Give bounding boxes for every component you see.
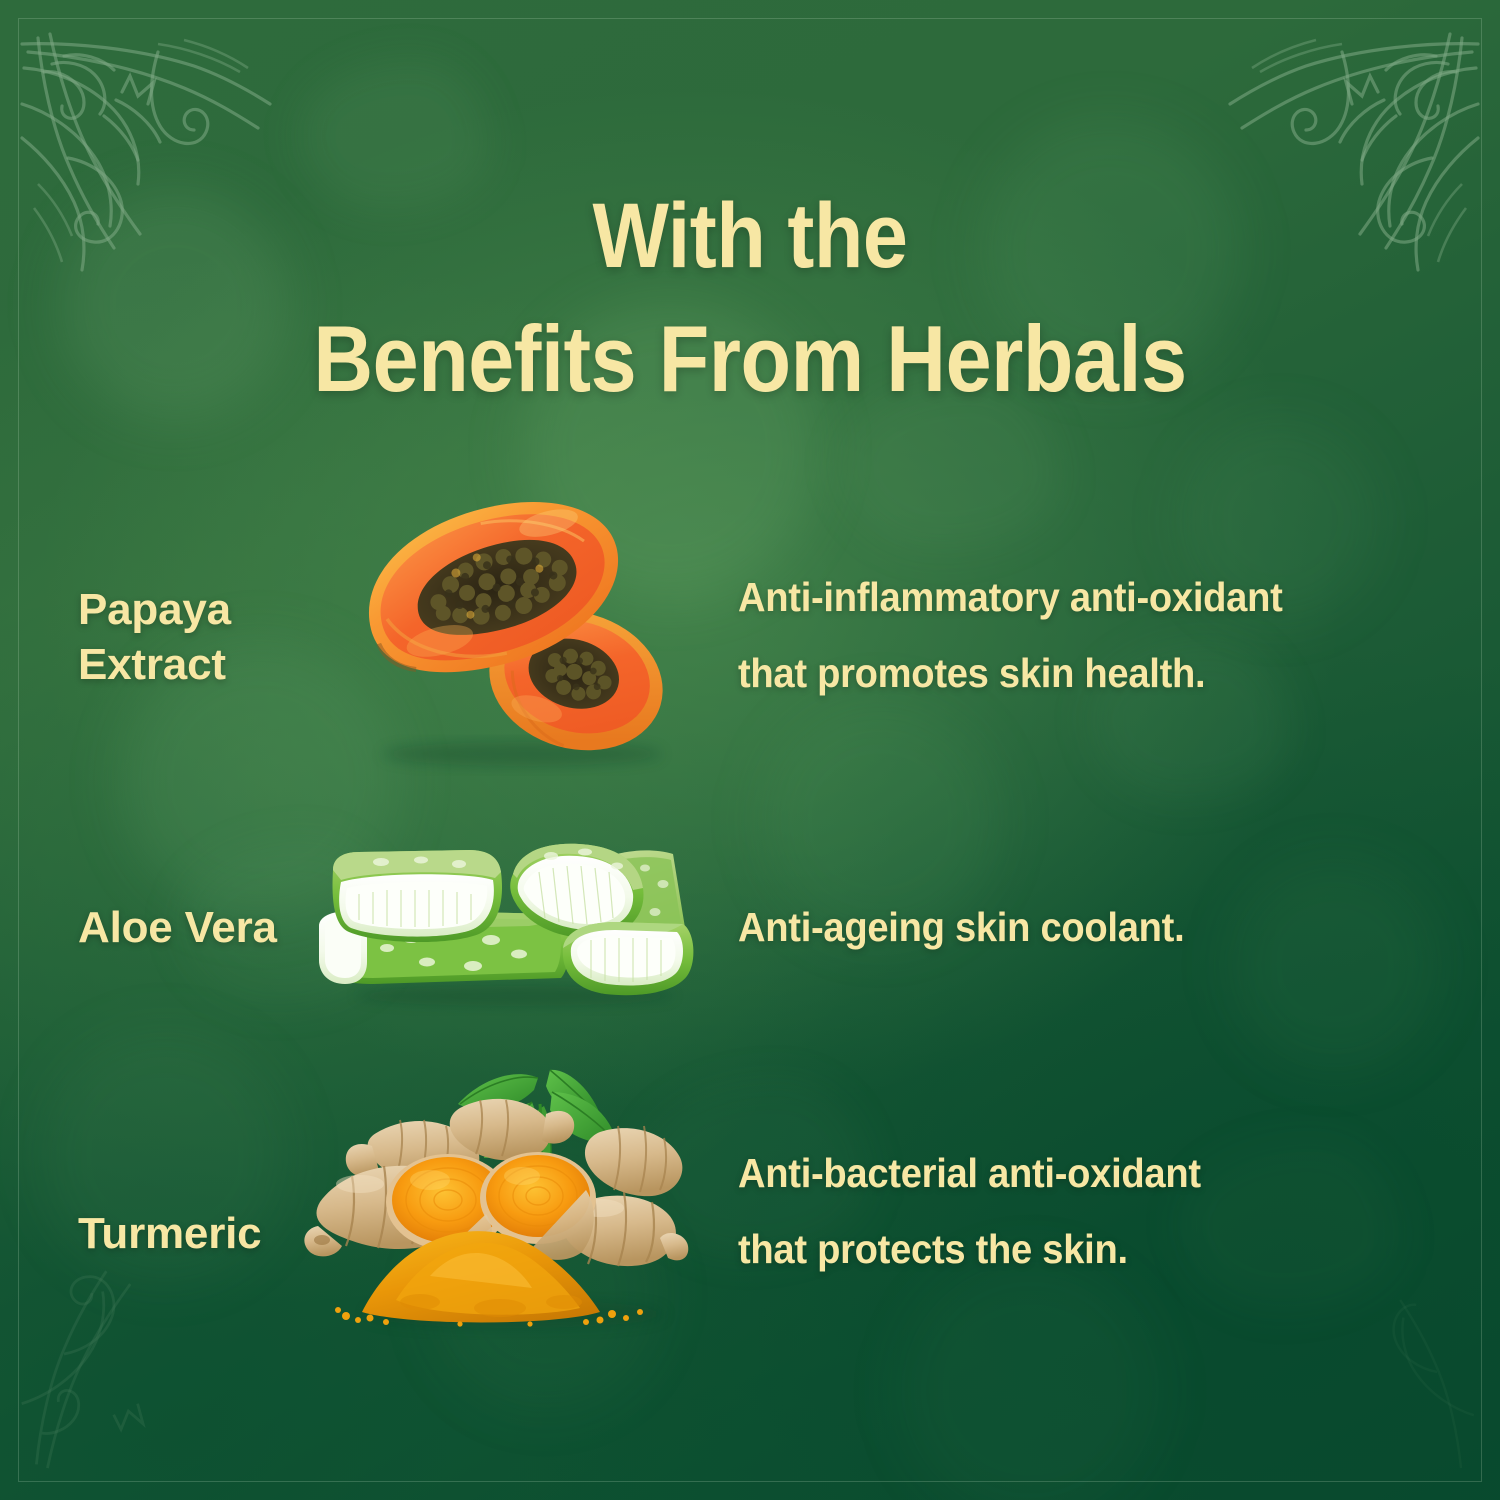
list-item: Aloe Vera <box>0 778 1500 1058</box>
ingredient-name-papaya: Papaya Extract <box>78 582 231 692</box>
aloe-vera-slices-image <box>305 840 717 1005</box>
ingredient-description-aloe-vera: Anti-ageing skin coolant. <box>738 890 1184 966</box>
ingredient-list: Papaya Extract <box>0 498 1500 1338</box>
description-line: Anti-ageing skin coolant. <box>738 904 1184 950</box>
ingredient-name-aloe-vera: Aloe Vera <box>78 900 277 955</box>
ingredient-name-line: Papaya <box>78 585 231 634</box>
herbal-benefits-poster: With the Benefits From Herbals Papaya Ex… <box>0 0 1500 1500</box>
headline-line-1: With the <box>592 185 907 287</box>
ingredient-name-turmeric: Turmeric <box>78 1206 261 1261</box>
description-line: Anti-bacterial anti-oxidant <box>738 1150 1201 1196</box>
ingredient-description-turmeric: Anti-bacterial anti-oxidant that protect… <box>738 1136 1201 1288</box>
description-line: that promotes skin health. <box>738 650 1205 696</box>
ingredient-name-line: Aloe Vera <box>78 903 277 952</box>
description-line: that protects the skin. <box>738 1226 1128 1272</box>
ingredient-name-line: Extract <box>78 640 226 689</box>
description-line: Anti-inflammatory anti-oxidant <box>738 574 1283 620</box>
list-item: Turmeric <box>0 1058 1500 1338</box>
headline-line-2: Benefits From Herbals <box>90 297 1410 421</box>
page-title: With the Benefits From Herbals <box>90 176 1410 422</box>
papaya-halves-image <box>322 516 698 766</box>
ingredient-name-line: Turmeric <box>78 1209 261 1258</box>
turmeric-root-powder-image <box>300 1062 720 1352</box>
ingredient-description-papaya: Anti-inflammatory anti-oxidant that prom… <box>738 560 1283 712</box>
list-item: Papaya Extract <box>0 498 1500 778</box>
